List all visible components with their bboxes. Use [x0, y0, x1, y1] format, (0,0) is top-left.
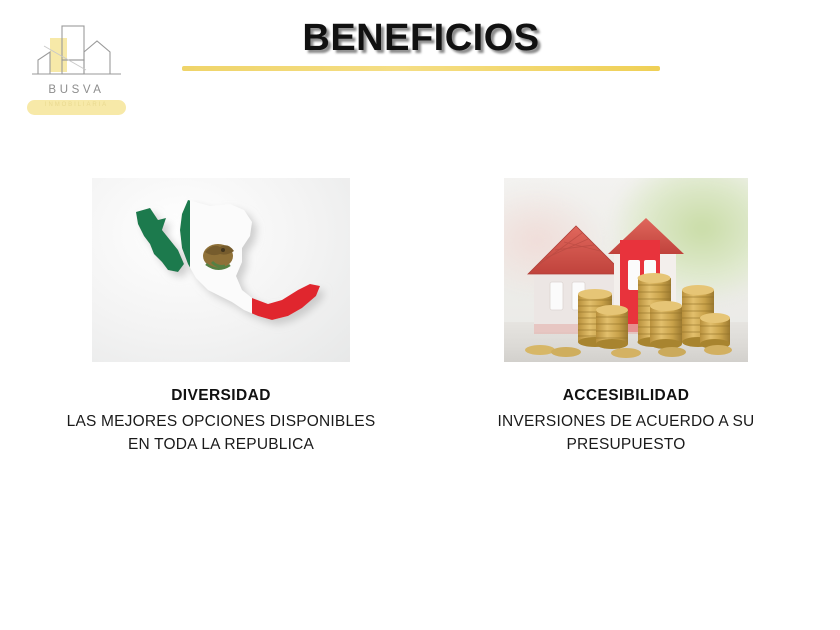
benefit-description: LAS MEJORES OPCIONES DISPONIBLES EN TODA… — [18, 410, 424, 457]
benefit-description: INVERSIONES DE ACUERDO A SU PRESUPUESTO — [430, 410, 822, 457]
slide-title: BENEFICIOS — [182, 17, 660, 60]
benefit-description-line-1: LAS MEJORES OPCIONES DISPONIBLES — [18, 410, 424, 433]
benefit-column-accesibilidad: ACCESIBILIDAD INVERSIONES DE ACUERDO A S… — [430, 178, 822, 457]
title-underline-rule — [182, 66, 660, 71]
logo-wordmark: BUSVA — [24, 84, 129, 96]
benefit-heading: DIVERSIDAD — [18, 387, 424, 405]
mexico-map-flag-photo — [92, 178, 350, 362]
mexico-map-shape-icon — [92, 178, 350, 362]
logo-subtitle-highlight: INMOBILIARIA — [27, 100, 126, 115]
benefit-description-line-2: PRESUPUESTO — [430, 433, 822, 456]
benefit-column-diversidad: DIVERSIDAD LAS MEJORES OPCIONES DISPONIB… — [18, 178, 424, 457]
benefit-description-line-2: EN TODA LA REPUBLICA — [18, 433, 424, 456]
house-and-coin-stacks-icon — [504, 178, 748, 362]
mexico-emblem — [203, 244, 234, 269]
logo-subtitle: INMOBILIARIA — [27, 102, 126, 108]
benefit-heading: ACCESIBILIDAD — [430, 387, 822, 405]
building-outline-logo-icon — [24, 22, 129, 84]
benefit-description-line-1: INVERSIONES DE ACUERDO A SU — [430, 410, 822, 433]
brand-logo: BUSVA INMOBILIARIA — [24, 22, 129, 120]
slide-canvas: BUSVA INMOBILIARIA BENEFICIOS — [0, 0, 840, 630]
house-coins-photo — [504, 178, 748, 362]
